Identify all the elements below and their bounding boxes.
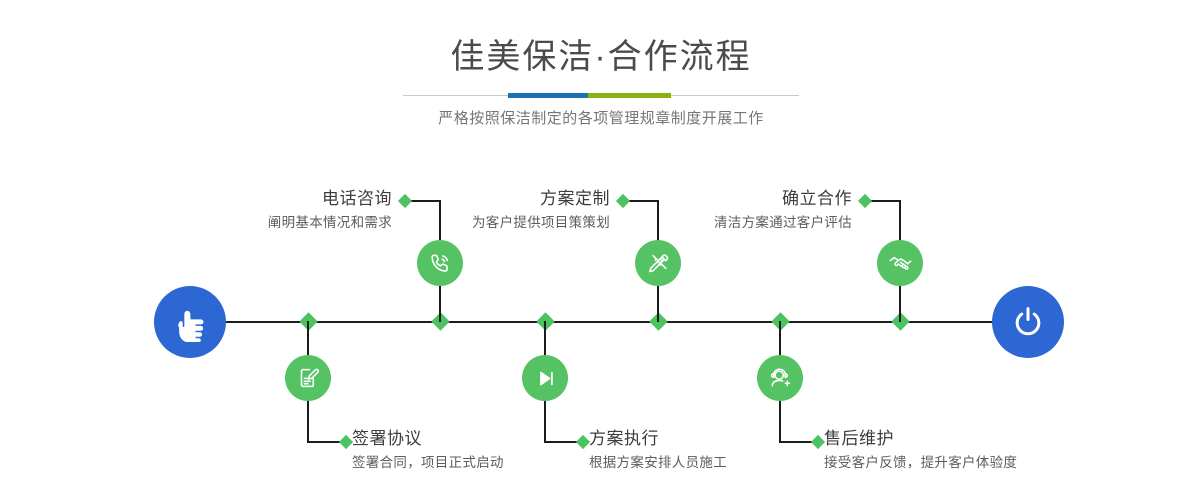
- step-3-icon-bubble: [635, 240, 681, 286]
- step-1-icon-bubble: [417, 240, 463, 286]
- step-3-desc: 为客户提供项目策策划: [340, 213, 610, 233]
- pencil-ruler-icon: [645, 250, 671, 276]
- process-timeline: 电话咨询 阐明基本情况和需求 签署协议 签署合同，项目正式启动: [0, 0, 1202, 502]
- step-2-icon-bubble: [285, 355, 331, 401]
- handshake-icon: [887, 250, 914, 277]
- step-5-label: 确立合作 清洁方案通过客户评估: [580, 188, 852, 233]
- step-5-desc: 清洁方案通过客户评估: [580, 213, 852, 233]
- step-6-title: 售后维护: [824, 428, 1164, 450]
- step-4-branch: [544, 441, 580, 443]
- pointing-hand-icon: [170, 302, 210, 342]
- step-6-desc: 接受客户反馈，提升客户体验度: [824, 453, 1164, 473]
- step-5-icon-bubble: [877, 240, 923, 286]
- cooperation-process-infographic: 佳美保洁·合作流程 严格按照保洁制定的各项管理规章制度开展工作: [0, 0, 1202, 502]
- timeline-end-endpoint: [992, 286, 1064, 358]
- step-6-label: 售后维护 接受客户反馈，提升客户体验度: [824, 428, 1164, 473]
- step-4-icon-bubble: [522, 355, 568, 401]
- step-3-label: 方案定制 为客户提供项目策策划: [340, 188, 610, 233]
- step-6-branch: [779, 441, 815, 443]
- phone-call-icon: [427, 250, 453, 276]
- power-icon: [1008, 302, 1048, 342]
- step-5-tip-diamond: [858, 194, 872, 208]
- step-5-title: 确立合作: [580, 188, 852, 210]
- timeline-start-endpoint: [154, 286, 226, 358]
- play-execute-icon: [533, 366, 558, 391]
- contract-document-icon: [295, 365, 321, 391]
- step-3-title: 方案定制: [340, 188, 610, 210]
- step-2-tip-diamond: [339, 435, 353, 449]
- step-2-branch: [307, 441, 343, 443]
- step-6-icon-bubble: [757, 355, 803, 401]
- customer-support-icon: [767, 365, 793, 391]
